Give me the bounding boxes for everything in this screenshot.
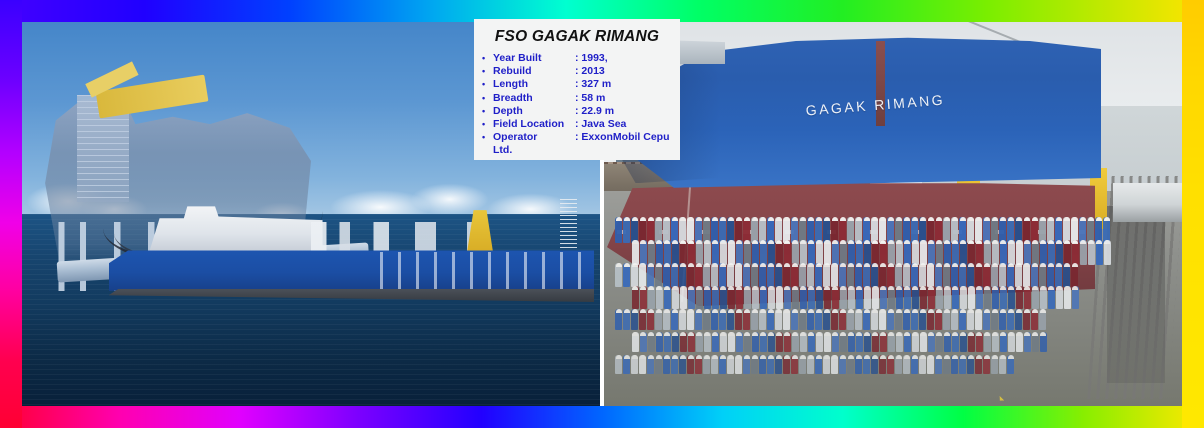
crew-member — [887, 263, 894, 287]
crew-member — [632, 332, 639, 352]
crew-member — [840, 332, 847, 352]
crew-member — [880, 332, 887, 352]
crew-member — [872, 332, 879, 352]
crew-member — [992, 332, 999, 352]
crew-member — [647, 263, 654, 287]
crew-member — [880, 240, 887, 265]
crew-member — [1008, 240, 1015, 265]
operator-wrap-text: Ltd. — [482, 144, 672, 157]
crew-member — [824, 332, 831, 352]
crew-member — [1064, 240, 1071, 265]
crew-member — [856, 286, 863, 308]
crew-member — [904, 332, 911, 352]
crew-member — [896, 286, 903, 308]
crew-member — [847, 309, 854, 330]
crew-member — [680, 240, 687, 265]
crew-member — [968, 286, 975, 308]
crew-member — [704, 286, 711, 308]
crew-member — [663, 263, 670, 287]
info-panel-title: FSO GAGAK RIMANG — [482, 28, 672, 46]
crew-member — [759, 309, 766, 330]
crew-group-photo — [610, 214, 1165, 383]
crew-member — [640, 240, 647, 265]
crew-member — [1040, 240, 1047, 265]
crew-member — [992, 240, 999, 265]
crew-member — [783, 263, 790, 287]
crew-member — [632, 240, 639, 265]
crew-member — [824, 240, 831, 265]
crew-member — [783, 355, 790, 374]
crew-member — [992, 286, 999, 308]
crew-member — [728, 286, 735, 308]
crew-member — [735, 263, 742, 287]
crew-member — [856, 240, 863, 265]
crew-member — [999, 355, 1006, 374]
crew-member — [775, 263, 782, 287]
crew-member — [727, 263, 734, 287]
crew-member — [800, 332, 807, 352]
crew-member — [1024, 286, 1031, 308]
crew-member — [1023, 309, 1030, 330]
frame-border-bottom — [0, 406, 1204, 428]
crew-member — [679, 263, 686, 287]
crew-member — [911, 355, 918, 374]
crew-member — [792, 240, 799, 265]
crew-member — [847, 355, 854, 374]
crew-member — [1024, 240, 1031, 265]
crew-member — [799, 309, 806, 330]
crew-row — [610, 240, 1165, 265]
crew-member — [735, 355, 742, 374]
crew-member — [1032, 240, 1039, 265]
crew-member — [736, 286, 743, 308]
crew-member — [687, 355, 694, 374]
vessel-info-panel: FSO GAGAK RIMANG •Year Built: 1993,•Rebu… — [474, 19, 680, 160]
crew-member — [991, 355, 998, 374]
crew-member — [1000, 240, 1007, 265]
crew-member — [928, 286, 935, 308]
crew-member — [935, 263, 942, 287]
crew-member — [703, 355, 710, 374]
crew-member — [719, 309, 726, 330]
crew-member — [720, 240, 727, 265]
crew-member — [943, 309, 950, 330]
crew-member — [912, 286, 919, 308]
crew-member — [687, 263, 694, 287]
crew-member — [688, 332, 695, 352]
crew-member — [824, 286, 831, 308]
crew-member — [1016, 240, 1023, 265]
crew-member — [744, 240, 751, 265]
spec-label: Rebuild — [493, 65, 575, 78]
crew-member — [655, 263, 662, 287]
crew-member — [736, 240, 743, 265]
crew-member — [632, 286, 639, 308]
crew-member — [871, 309, 878, 330]
crew-member — [928, 240, 935, 265]
crew-member — [679, 309, 686, 330]
crew-member — [895, 355, 902, 374]
crew-member — [1015, 309, 1022, 330]
crew-member — [751, 263, 758, 287]
crew-member — [1071, 263, 1078, 287]
crew-member — [808, 240, 815, 265]
crew-member — [815, 355, 822, 374]
crew-member — [768, 240, 775, 265]
crew-member — [855, 263, 862, 287]
crew-member — [855, 309, 862, 330]
crew-member — [1072, 286, 1079, 308]
crew-member — [1056, 286, 1063, 308]
crew-member — [1000, 286, 1007, 308]
crew-member — [839, 355, 846, 374]
crew-member — [920, 286, 927, 308]
crew-member — [864, 240, 871, 265]
crew-member — [719, 263, 726, 287]
bullet-icon: • — [482, 118, 493, 131]
spec-label: Year Built — [493, 52, 575, 65]
crew-member — [935, 355, 942, 374]
crew-member — [983, 309, 990, 330]
crew-member — [864, 332, 871, 352]
crew-member — [912, 240, 919, 265]
crew-member — [968, 240, 975, 265]
crew-member — [863, 309, 870, 330]
crew-member — [984, 240, 991, 265]
crew-member — [984, 332, 991, 352]
crew-member — [888, 286, 895, 308]
crew-member — [839, 263, 846, 287]
crew-member — [727, 309, 734, 330]
crew-member — [695, 263, 702, 287]
crew-member — [871, 263, 878, 287]
crew-member — [912, 332, 919, 352]
crew-member — [800, 286, 807, 308]
crew-member — [1104, 240, 1111, 265]
crew-member — [1000, 332, 1007, 352]
crew-member — [623, 355, 630, 374]
crew-member — [976, 286, 983, 308]
crew-member — [999, 263, 1006, 287]
crew-member — [703, 309, 710, 330]
crew-member — [935, 309, 942, 330]
crew-member — [975, 355, 982, 374]
crew-member — [664, 240, 671, 265]
crew-member — [631, 309, 638, 330]
crew-member — [967, 355, 974, 374]
crew-member — [920, 240, 927, 265]
crew-member — [672, 286, 679, 308]
crew-member — [1031, 263, 1038, 287]
crew-member — [743, 309, 750, 330]
crew-member — [1008, 286, 1015, 308]
crew-member — [727, 355, 734, 374]
crew-member — [784, 286, 791, 308]
crew-member — [936, 240, 943, 265]
crew-member — [783, 309, 790, 330]
crew-member — [984, 286, 991, 308]
crew-member — [816, 332, 823, 352]
crew-member — [623, 309, 630, 330]
crew-member — [639, 355, 646, 374]
crew-member — [656, 332, 663, 352]
crew-member — [791, 355, 798, 374]
vessel-deck-equipment — [311, 222, 571, 253]
crew-member — [631, 355, 638, 374]
crew-member — [856, 332, 863, 352]
crew-member — [896, 332, 903, 352]
crew-member — [751, 309, 758, 330]
crew-member — [951, 263, 958, 287]
crew-member — [671, 355, 678, 374]
crew-member — [1055, 263, 1062, 287]
crew-member — [807, 309, 814, 330]
crew-member — [776, 240, 783, 265]
crew-member — [1015, 263, 1022, 287]
crew-member — [640, 332, 647, 352]
crew-member — [775, 309, 782, 330]
crew-member — [1064, 286, 1071, 308]
crew-member — [647, 355, 654, 374]
crew-member — [720, 332, 727, 352]
crew-row — [610, 332, 1165, 352]
crew-member — [1056, 240, 1063, 265]
crew-member — [1072, 240, 1079, 265]
crew-member — [880, 286, 887, 308]
crew-member — [792, 286, 799, 308]
crew-member — [831, 355, 838, 374]
crew-member — [959, 309, 966, 330]
crew-member — [967, 309, 974, 330]
crew-member — [655, 309, 662, 330]
crew-member — [791, 309, 798, 330]
crew-member — [776, 332, 783, 352]
crew-member — [751, 355, 758, 374]
crew-member — [743, 263, 750, 287]
crew-member — [712, 240, 719, 265]
crew-member — [1047, 263, 1054, 287]
crew-member — [951, 309, 958, 330]
crew-member — [695, 355, 702, 374]
crew-member — [639, 309, 646, 330]
crew-member — [911, 263, 918, 287]
spec-row: •Breadth: 58 m — [482, 92, 672, 105]
crew-member — [879, 263, 886, 287]
crew-member — [743, 355, 750, 374]
crew-member — [863, 355, 870, 374]
crew-member — [799, 263, 806, 287]
crew-member — [831, 263, 838, 287]
spec-value: : 327 m — [575, 78, 672, 91]
crew-member — [784, 332, 791, 352]
crew-member — [903, 355, 910, 374]
crew-member — [807, 263, 814, 287]
crew-member — [807, 355, 814, 374]
crew-member — [639, 263, 646, 287]
crew-member — [784, 240, 791, 265]
crew-member — [832, 332, 839, 352]
crew-member — [663, 309, 670, 330]
crew-member — [936, 286, 943, 308]
crew-member — [792, 332, 799, 352]
crew-member — [671, 309, 678, 330]
spec-label: Operator — [493, 131, 575, 144]
crew-member — [1040, 286, 1047, 308]
spec-label: Depth — [493, 105, 575, 118]
crew-member — [1040, 332, 1047, 352]
crew-member — [655, 355, 662, 374]
crew-member — [927, 355, 934, 374]
crew-member — [911, 309, 918, 330]
crew-member — [952, 240, 959, 265]
crew-member — [943, 355, 950, 374]
crew-member — [976, 332, 983, 352]
spec-value: : Java Sea — [575, 118, 672, 131]
crew-member — [927, 309, 934, 330]
crew-member — [656, 240, 663, 265]
crew-member — [1039, 263, 1046, 287]
crew-member — [752, 286, 759, 308]
crew-member — [919, 309, 926, 330]
spec-row: •Year Built: 1993, — [482, 52, 672, 65]
crew-member — [671, 263, 678, 287]
crew-member — [983, 355, 990, 374]
crew-member — [1048, 240, 1055, 265]
crew-member — [960, 286, 967, 308]
crew-member — [944, 332, 951, 352]
crew-member — [1007, 309, 1014, 330]
spec-value: : 58 m — [575, 92, 672, 105]
crew-member — [1031, 309, 1038, 330]
crew-member — [687, 309, 694, 330]
photo-gagak-rimang-drydock: GAGAK RIMANG — [604, 22, 1182, 406]
crew-member — [840, 286, 847, 308]
crew-member — [831, 309, 838, 330]
crew-member — [951, 355, 958, 374]
spec-row: •Rebuild: 2013 — [482, 65, 672, 78]
crew-member — [1048, 286, 1055, 308]
spec-row: •Operator: ExxonMobil Cepu — [482, 131, 672, 144]
crew-member — [688, 286, 695, 308]
crew-member — [760, 286, 767, 308]
spec-value: : 1993, — [575, 52, 672, 65]
crew-member — [839, 309, 846, 330]
crew-member — [904, 286, 911, 308]
crew-member — [744, 332, 751, 352]
frame-border-left — [0, 0, 22, 428]
crew-member — [664, 286, 671, 308]
crew-member — [816, 240, 823, 265]
crew-member — [991, 263, 998, 287]
crew-member — [895, 309, 902, 330]
crew-member — [879, 309, 886, 330]
crew-member — [895, 263, 902, 287]
crew-member — [872, 286, 879, 308]
crew-member — [952, 286, 959, 308]
crew-member — [648, 240, 655, 265]
bullet-icon: • — [482, 65, 493, 78]
crew-member — [983, 263, 990, 287]
crew-member — [991, 309, 998, 330]
crew-member — [696, 286, 703, 308]
crew-member — [879, 355, 886, 374]
crew-member — [1007, 355, 1014, 374]
spec-label: Breadth — [493, 92, 575, 105]
crew-member — [863, 263, 870, 287]
crew-member — [672, 332, 679, 352]
crew-member — [919, 263, 926, 287]
spec-value: : ExxonMobil Cepu — [575, 131, 672, 144]
crew-member — [872, 240, 879, 265]
crew-member — [759, 355, 766, 374]
bullet-icon: • — [482, 131, 493, 144]
crew-member — [648, 332, 655, 352]
crew-member — [767, 263, 774, 287]
bullet-icon: • — [482, 92, 493, 105]
crew-member — [704, 332, 711, 352]
crew-member — [832, 286, 839, 308]
spec-row: •Depth: 22.9 m — [482, 105, 672, 118]
crew-member — [903, 309, 910, 330]
crew-member — [975, 263, 982, 287]
crew-member — [640, 286, 647, 308]
crew-member — [647, 309, 654, 330]
crew-member — [615, 309, 622, 330]
crew-member — [800, 240, 807, 265]
crew-member — [864, 286, 871, 308]
crew-member — [623, 263, 630, 287]
crew-member — [832, 240, 839, 265]
crew-member — [712, 332, 719, 352]
crew-member — [776, 286, 783, 308]
crew-member — [1024, 332, 1031, 352]
crew-member — [960, 240, 967, 265]
crew-member — [695, 309, 702, 330]
spec-value: : 2013 — [575, 65, 672, 78]
crew-member — [663, 355, 670, 374]
crew-member — [1088, 240, 1095, 265]
crew-member — [711, 355, 718, 374]
crew-member — [712, 286, 719, 308]
crew-member — [696, 332, 703, 352]
crew-member — [903, 263, 910, 287]
crew-member — [920, 332, 927, 352]
crew-member — [615, 355, 622, 374]
crew-row — [610, 286, 1165, 308]
ship-mast — [876, 41, 885, 125]
slide-canvas: GAGAK RIMANG FSO GAGAK RIMANG •Year Buil… — [0, 0, 1204, 428]
crew-member — [976, 240, 983, 265]
vessel-flare-mast — [560, 199, 577, 253]
crew-member — [848, 286, 855, 308]
crew-member — [752, 240, 759, 265]
crew-row — [610, 355, 1165, 374]
crew-member — [887, 355, 894, 374]
crew-member — [999, 309, 1006, 330]
crew-member — [672, 240, 679, 265]
crew-member — [927, 263, 934, 287]
crew-member — [728, 240, 735, 265]
crew-member — [959, 355, 966, 374]
crew-member — [752, 332, 759, 352]
crew-member — [967, 263, 974, 287]
crew-row — [610, 263, 1165, 287]
crew-member — [1039, 309, 1046, 330]
crew-member — [760, 240, 767, 265]
crew-member — [959, 263, 966, 287]
crew-member — [848, 240, 855, 265]
crew-member — [656, 286, 663, 308]
